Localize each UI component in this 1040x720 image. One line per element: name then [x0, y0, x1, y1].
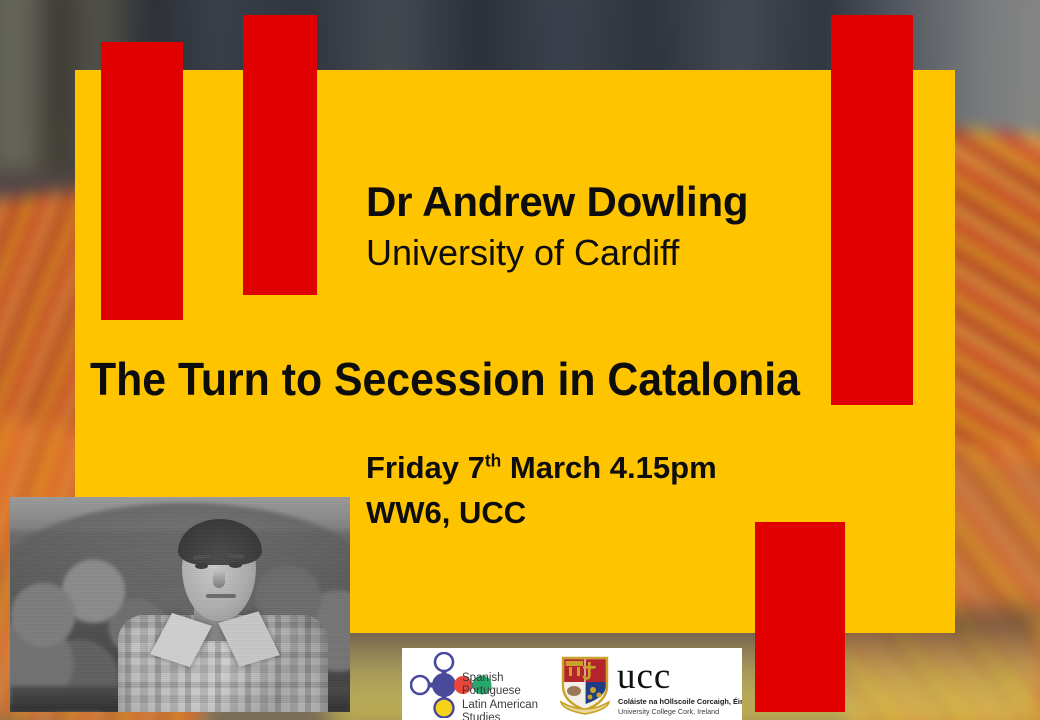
ucc-logo: ucc Coláiste na hOllscoile Corcaigh, Éir…	[557, 652, 742, 718]
splas-line-3: Latin American Studies	[462, 699, 560, 720]
splas-logo-text: Spanish Portuguese Latin American Studie…	[462, 672, 560, 720]
red-bar-bottom-right	[755, 522, 845, 712]
ucc-subtitle-english: University College Cork, Ireland	[618, 707, 719, 716]
photo-nose	[213, 570, 225, 588]
photo-eye-left	[195, 563, 208, 569]
ucc-crest-icon	[557, 652, 613, 716]
event-venue: WW6, UCC	[366, 495, 526, 531]
speaker-name: Dr Andrew Dowling	[366, 178, 748, 226]
speaker-affiliation: University of Cardiff	[366, 232, 679, 274]
talk-title: The Turn to Secession in Catalonia	[90, 352, 800, 406]
event-day-suffix: March 4.15pm	[501, 450, 716, 485]
photo-mouth	[206, 594, 236, 598]
logo-strip: Spanish Portuguese Latin American Studie…	[402, 648, 742, 720]
event-day-prefix: Friday 7	[366, 450, 485, 485]
red-bar-top-left-2	[243, 15, 317, 295]
splas-line-1: Spanish	[462, 672, 560, 685]
event-poster: Dr Andrew Dowling University of Cardiff …	[0, 0, 1040, 720]
red-bar-top-right	[831, 15, 913, 405]
event-datetime: Friday 7th March 4.15pm	[366, 450, 717, 486]
splas-logo: Spanish Portuguese Latin American Studie…	[410, 652, 560, 718]
speaker-photo	[10, 497, 350, 712]
red-bar-top-left-1	[101, 42, 183, 320]
ucc-wordmark: ucc	[617, 658, 671, 695]
photo-eye-right	[229, 562, 242, 568]
ucc-subtitle-irish: Coláiste na hOllscoile Corcaigh, Éire	[618, 697, 742, 706]
splas-line-2: Portuguese	[462, 685, 560, 698]
event-day-ordinal: th	[485, 451, 501, 471]
